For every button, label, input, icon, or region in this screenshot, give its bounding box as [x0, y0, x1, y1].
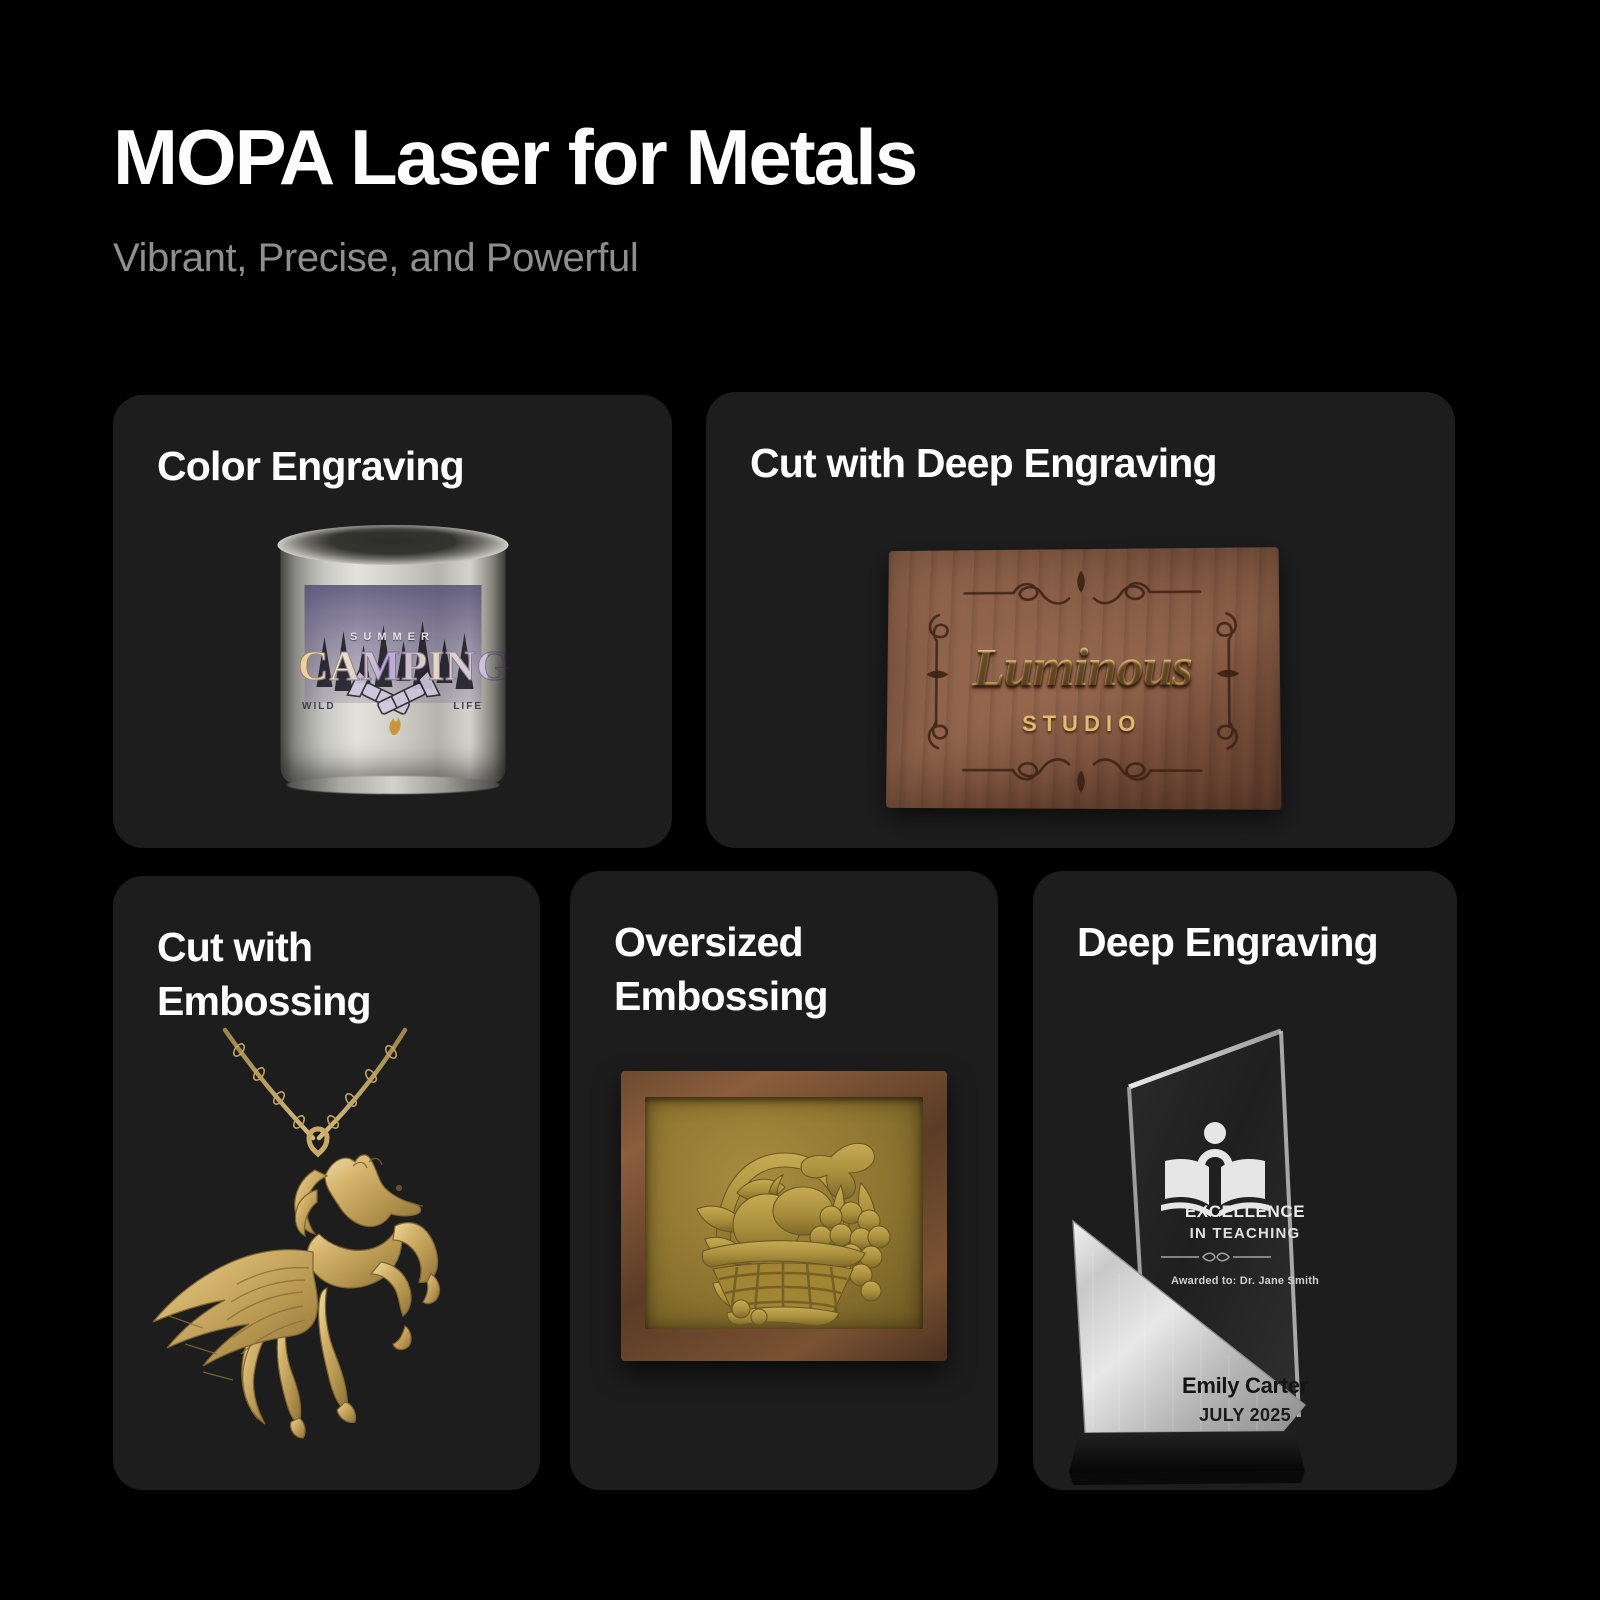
fruit-basket-relief-image [621, 1071, 947, 1361]
wood-plaque-image: Luminous STUDIO [886, 547, 1282, 810]
card-title: Color Engraving [157, 439, 464, 493]
card-title: Cut with Deep Engraving [750, 436, 1217, 490]
plaque-engraving: Luminous STUDIO [886, 547, 1282, 810]
card-title: Cut with Embossing [157, 920, 371, 1028]
pegasus-pendant-icon [113, 1026, 540, 1490]
mug-text-summer: SUMMER [298, 631, 487, 643]
mug-base [286, 776, 499, 794]
mug-text-camping: CAMPING [298, 643, 487, 691]
trophy-text-date: JULY 2025 [1033, 1405, 1457, 1426]
pegasus-body [153, 1155, 440, 1438]
trophy-text-name: Emily Carter [1033, 1373, 1457, 1399]
card-color-engraving[interactable]: Color Engraving [113, 395, 672, 848]
page-subtitle: Vibrant, Precise, and Powerful [113, 238, 1473, 278]
mug-text-wild: WILD [302, 701, 336, 712]
plaque-text-main: Luminous [887, 635, 1280, 698]
card-cut-with-deep-engraving[interactable]: Cut with Deep Engraving [706, 392, 1455, 848]
header: MOPA Laser for Metals Vibrant, Precise, … [113, 118, 1473, 278]
mug-artwork: SUMMER CAMPING WILD LIFE [298, 583, 487, 738]
mug-image: SUMMER CAMPING WILD LIFE [113, 505, 672, 835]
mug-text-life: LIFE [453, 701, 483, 712]
trophy-image: EXCELLENCE IN TEACHING Awarded to: Dr. J… [1033, 1021, 1457, 1490]
card-cut-with-embossing[interactable]: Cut with Embossing [113, 876, 540, 1490]
titanium-mug-icon: SUMMER CAMPING WILD LIFE [280, 525, 505, 790]
trophy-text-line1: EXCELLENCE [1033, 1202, 1457, 1222]
poster-root: MOPA Laser for Metals Vibrant, Precise, … [0, 0, 1600, 1600]
fruit-basket-icon [645, 1097, 923, 1329]
card-oversized-embossing[interactable]: Oversized Embossing [570, 871, 998, 1490]
necklace-chain-icon [225, 1030, 405, 1138]
plaque-text-sub: STUDIO [887, 711, 1281, 737]
pegasus-necklace-image [113, 1026, 540, 1490]
card-title: Deep Engraving [1077, 915, 1378, 969]
card-title: Oversized Embossing [614, 915, 828, 1023]
mug-rim [277, 525, 508, 565]
page-title: MOPA Laser for Metals [113, 118, 1473, 196]
campfire-icon [389, 717, 400, 735]
relief-carving [645, 1097, 923, 1329]
trophy-base [1069, 1431, 1305, 1473]
trophy-text-awarded: Awarded to: Dr. Jane Smith [1033, 1275, 1457, 1287]
card-deep-engraving[interactable]: Deep Engraving [1033, 871, 1457, 1490]
trophy-text-line2: IN TEACHING [1033, 1225, 1457, 1242]
